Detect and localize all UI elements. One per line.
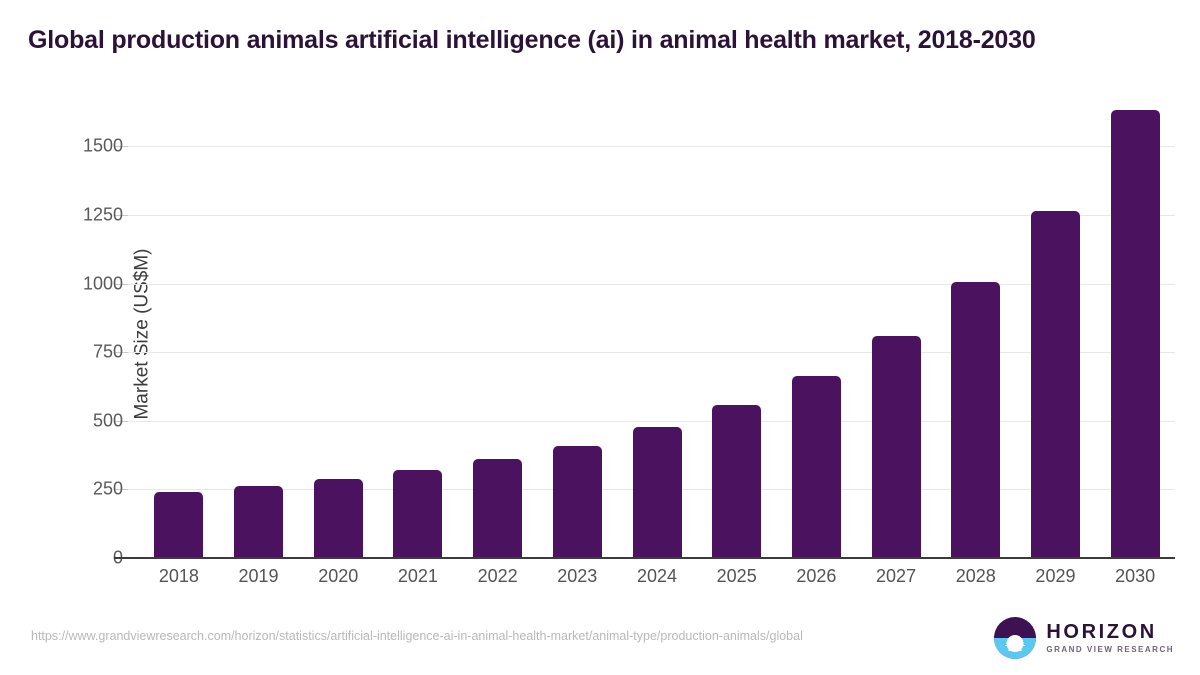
x-axis-tick-label-2019: 2019 xyxy=(239,566,279,587)
chart-card: Global production animals artificial int… xyxy=(0,0,1200,675)
y-axis-tick-label: 750 xyxy=(0,342,137,363)
bar-2030[interactable] xyxy=(1111,110,1160,558)
bar-2027[interactable] xyxy=(872,336,921,558)
bar-2026[interactable] xyxy=(792,376,841,558)
horizon-sunrise-icon xyxy=(994,617,1036,659)
bar-series xyxy=(139,110,1175,558)
bar-2021[interactable] xyxy=(393,470,442,558)
horizon-logo: HORIZON GRAND VIEW RESEARCH xyxy=(994,617,1174,659)
x-axis-tick-label-2028: 2028 xyxy=(956,566,996,587)
x-axis-tick-label-2027: 2027 xyxy=(876,566,916,587)
x-axis-tick-label-2021: 2021 xyxy=(398,566,438,587)
x-axis-tick-label-2023: 2023 xyxy=(557,566,597,587)
bar-2023[interactable] xyxy=(553,446,602,558)
bar-2028[interactable] xyxy=(951,282,1000,558)
y-axis-tick-label: 500 xyxy=(0,410,137,431)
x-axis-tick-label-2024: 2024 xyxy=(637,566,677,587)
logo-text: HORIZON GRAND VIEW RESEARCH xyxy=(1046,622,1174,654)
x-axis-tick-label-2018: 2018 xyxy=(159,566,199,587)
bar-2019[interactable] xyxy=(234,486,283,558)
logo-subtitle: GRAND VIEW RESEARCH xyxy=(1046,646,1174,654)
x-axis-tick-label-2020: 2020 xyxy=(318,566,358,587)
chart-plot: Market Size (US$M) 025050075010001250150… xyxy=(0,0,1200,675)
x-axis-tick-label-2029: 2029 xyxy=(1035,566,1075,587)
bar-2029[interactable] xyxy=(1031,211,1080,558)
x-axis-tick-label-2026: 2026 xyxy=(796,566,836,587)
x-axis-tick-label-2025: 2025 xyxy=(717,566,757,587)
x-axis-tick-label-2022: 2022 xyxy=(478,566,518,587)
bar-2024[interactable] xyxy=(633,427,682,558)
bar-2020[interactable] xyxy=(314,479,363,558)
bar-2025[interactable] xyxy=(712,405,761,558)
x-axis-tick-label-2030: 2030 xyxy=(1115,566,1155,587)
bar-2018[interactable] xyxy=(154,492,203,558)
y-axis-tick-label: 250 xyxy=(0,479,137,500)
bar-2022[interactable] xyxy=(473,459,522,558)
y-axis-tick-label: 1250 xyxy=(0,205,137,226)
y-axis-tick-label: 1500 xyxy=(0,136,137,157)
y-axis-tick-label: 1000 xyxy=(0,273,137,294)
x-axis-line xyxy=(114,557,1175,559)
plot-area: Market Size (US$M) 025050075010001250150… xyxy=(139,110,1175,558)
source-url[interactable]: https://www.grandviewresearch.com/horizo… xyxy=(31,628,911,645)
logo-name: HORIZON xyxy=(1046,622,1174,642)
